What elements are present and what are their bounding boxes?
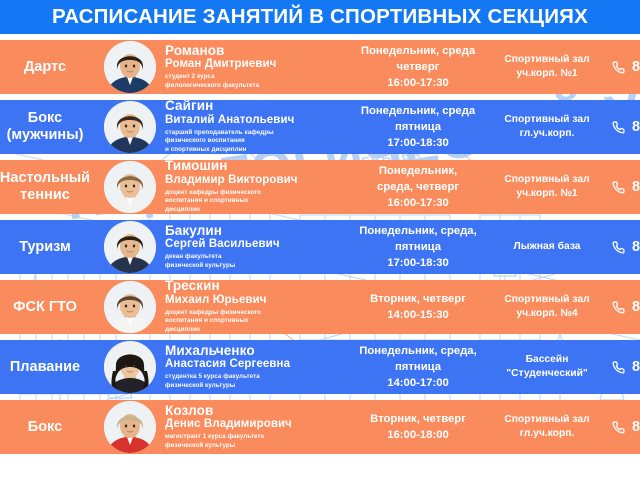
instructor-role: доцент кафедры физического воспитания и … bbox=[165, 309, 267, 334]
location-cell: Спортивный зал уч.корп. №1 bbox=[492, 53, 602, 81]
sport-name-cell: Бокс bbox=[0, 419, 104, 436]
instructor-role: старший преподаватель кафедры физическог… bbox=[165, 129, 294, 154]
instructor-cell: Бакулин Сергей Васильевич декан факульте… bbox=[104, 221, 344, 273]
schedule-table: Дартс Романов Роман Дмитриевич студент 2… bbox=[0, 40, 640, 460]
instructor-first-name: Анастасия Сергеевна bbox=[165, 358, 290, 371]
instructor-role: доцент кафедры физического воспитания и … bbox=[165, 189, 298, 214]
location-cell: Спортивный зал уч.корп. №1 bbox=[492, 173, 602, 201]
location-cell: Спортивный зал уч.корп. №4 bbox=[492, 293, 602, 321]
instructor-first-name: Денис Владимирович bbox=[165, 418, 292, 431]
instructor-role: студент 2 курса филологического факульте… bbox=[165, 73, 276, 90]
phone-number[interactable]: 8 909 325 21 15 bbox=[632, 239, 640, 255]
phone-number[interactable]: 8 917 693 57 17 bbox=[632, 299, 640, 315]
instructor-text: Романов Роман Дмитриевич студент 2 курса… bbox=[165, 44, 276, 91]
location-cell: Спортивный зал гл.уч.корп. bbox=[492, 413, 602, 441]
instructor-first-name: Владимир Викторович bbox=[165, 174, 298, 187]
sport-name-cell: Бокс (мужчины) bbox=[0, 110, 104, 143]
phone-cell[interactable]: 8 951 341 57 71 bbox=[602, 419, 640, 435]
phone-icon bbox=[612, 181, 625, 194]
instructor-role: студентка 5 курса факультета физической … bbox=[165, 373, 290, 390]
location-cell: Спортивный зал гл.уч.корп. bbox=[492, 113, 602, 141]
instructor-last-name: Козлов bbox=[165, 404, 292, 419]
sport-name-cell: Плавание bbox=[0, 359, 104, 376]
instructor-last-name: Трескин bbox=[165, 280, 267, 294]
avatar bbox=[104, 41, 156, 93]
avatar bbox=[104, 101, 156, 153]
schedule-time-cell: Понедельник, среда, четверг 16:00-17:30 bbox=[344, 163, 492, 211]
phone-icon bbox=[612, 241, 625, 254]
avatar bbox=[104, 161, 156, 213]
phone-cell[interactable]: 8 909 325 21 15 bbox=[602, 239, 640, 255]
location-cell: Лыжная база bbox=[492, 240, 602, 254]
schedule-time-cell: Понедельник, среда четверг 16:00-17:30 bbox=[344, 43, 492, 91]
phone-number[interactable]: 8 927 792 63 44 bbox=[632, 359, 640, 375]
phone-cell[interactable]: 8 917 693 57 17 bbox=[602, 299, 640, 315]
schedule-time-cell: Вторник, четверг 14:00-15:30 bbox=[344, 291, 492, 323]
page-header-banner: РАСПИСАНИЕ ЗАНЯТИЙ В СПОРТИВНЫХ СЕКЦИЯХ bbox=[0, 0, 640, 34]
schedule-time-cell: Вторник, четверг 16:00-18:00 bbox=[344, 411, 492, 443]
instructor-text: Михальченко Анастасия Сергеевна студентк… bbox=[165, 344, 290, 391]
instructor-last-name: Михальченко bbox=[165, 344, 290, 359]
phone-icon bbox=[612, 301, 625, 314]
instructor-cell: Трескин Михаил Юрьевич доцент кафедры фи… bbox=[104, 280, 344, 334]
phone-icon bbox=[612, 361, 625, 374]
phone-icon bbox=[612, 61, 625, 74]
table-row[interactable]: Дартс Романов Роман Дмитриевич студент 2… bbox=[0, 40, 640, 94]
table-row[interactable]: Настольный теннис Тимошин Владимир Викто… bbox=[0, 160, 640, 214]
avatar bbox=[104, 341, 156, 393]
instructor-text: Бакулин Сергей Васильевич декан факульте… bbox=[165, 224, 280, 271]
table-row[interactable]: Бокс (мужчины) Сайгин Виталий Анатольеви… bbox=[0, 100, 640, 154]
sport-name-cell: Туризм bbox=[0, 239, 104, 256]
phone-cell[interactable]: 8 963 147 05 01 bbox=[602, 59, 640, 75]
instructor-text: Тимошин Владимир Викторович доцент кафед… bbox=[165, 160, 298, 214]
phone-number[interactable]: 8 963 147 05 01 bbox=[632, 59, 640, 75]
instructor-cell: Козлов Денис Владимирович магистрант 1 к… bbox=[104, 401, 344, 453]
phone-icon bbox=[612, 421, 625, 434]
instructor-cell: Михальченко Анастасия Сергеевна студентк… bbox=[104, 341, 344, 393]
sport-name-cell: Настольный теннис bbox=[0, 170, 104, 203]
instructor-first-name: Роман Дмитриевич bbox=[165, 58, 276, 71]
instructor-role: декан факультета физической культуры bbox=[165, 253, 280, 270]
avatar bbox=[104, 281, 156, 333]
location-cell: Бассейн "Студенческий" bbox=[492, 353, 602, 381]
instructor-text: Козлов Денис Владимирович магистрант 1 к… bbox=[165, 404, 292, 451]
table-row[interactable]: Плавание Михальченко Анастасия Сергеевна… bbox=[0, 340, 640, 394]
instructor-cell: Сайгин Виталий Анатольевич старший препо… bbox=[104, 100, 344, 154]
instructor-text: Сайгин Виталий Анатольевич старший препо… bbox=[165, 100, 294, 154]
schedule-time-cell: Понедельник, среда, пятница 14:00-17:00 bbox=[344, 343, 492, 391]
phone-cell[interactable]: 8 927 792 63 44 bbox=[602, 359, 640, 375]
phone-number[interactable]: 8 927 188 60 92 bbox=[632, 119, 640, 135]
phone-cell[interactable]: 8 927 188 60 92 bbox=[602, 119, 640, 135]
table-row[interactable]: Бокс Козлов Денис Владимирович магистран… bbox=[0, 400, 640, 454]
phone-number[interactable]: 8 951 341 57 71 bbox=[632, 419, 640, 435]
avatar bbox=[104, 401, 156, 453]
phone-icon bbox=[612, 121, 625, 134]
instructor-last-name: Бакулин bbox=[165, 224, 280, 239]
phone-number[interactable]: 8 905 009 75 5 bbox=[632, 179, 640, 195]
phone-cell[interactable]: 8 905 009 75 5 bbox=[602, 179, 640, 195]
table-row[interactable]: Туризм Бакулин Сергей Васильевич декан ф… bbox=[0, 220, 640, 274]
instructor-first-name: Михаил Юрьевич bbox=[165, 294, 267, 307]
instructor-first-name: Сергей Васильевич bbox=[165, 238, 280, 251]
instructor-cell: Тимошин Владимир Викторович доцент кафед… bbox=[104, 160, 344, 214]
instructor-cell: Романов Роман Дмитриевич студент 2 курса… bbox=[104, 41, 344, 93]
instructor-last-name: Сайгин bbox=[165, 100, 294, 114]
table-row[interactable]: ФСК ГТО Трескин Михаил Юрьевич доцент ка… bbox=[0, 280, 640, 334]
sport-name-cell: Дартс bbox=[0, 59, 104, 76]
avatar bbox=[104, 221, 156, 273]
instructor-last-name: Тимошин bbox=[165, 160, 298, 174]
instructor-first-name: Виталий Анатольевич bbox=[165, 114, 294, 127]
instructor-last-name: Романов bbox=[165, 44, 276, 59]
sport-name-cell: ФСК ГТО bbox=[0, 299, 104, 316]
instructor-role: магистрант 1 курса факультета физической… bbox=[165, 433, 292, 450]
schedule-time-cell: Понедельник, среда пятница 17:00-18:30 bbox=[344, 103, 492, 151]
page-title: РАСПИСАНИЕ ЗАНЯТИЙ В СПОРТИВНЫХ СЕКЦИЯХ bbox=[52, 5, 588, 29]
schedule-time-cell: Понедельник, среда, пятница 17:00-18:30 bbox=[344, 223, 492, 271]
instructor-text: Трескин Михаил Юрьевич доцент кафедры фи… bbox=[165, 280, 267, 334]
